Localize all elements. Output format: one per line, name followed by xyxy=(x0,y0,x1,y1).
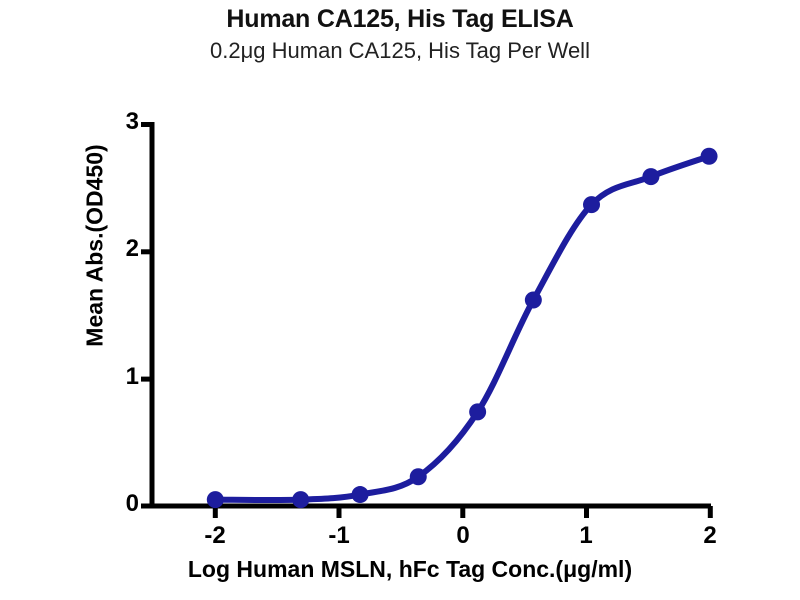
data-point xyxy=(352,486,369,503)
elisa-chart: Human CA125, His Tag ELISA 0.2μg Human C… xyxy=(0,0,800,600)
data-point xyxy=(207,491,224,508)
plot-area xyxy=(0,0,800,600)
data-point xyxy=(642,168,659,185)
series-markers xyxy=(207,148,718,508)
data-point xyxy=(410,468,427,485)
series-curve xyxy=(215,156,709,500)
data-point xyxy=(469,403,486,420)
data-point xyxy=(701,148,718,165)
data-point xyxy=(525,291,542,308)
data-point xyxy=(583,196,600,213)
data-point xyxy=(292,491,309,508)
